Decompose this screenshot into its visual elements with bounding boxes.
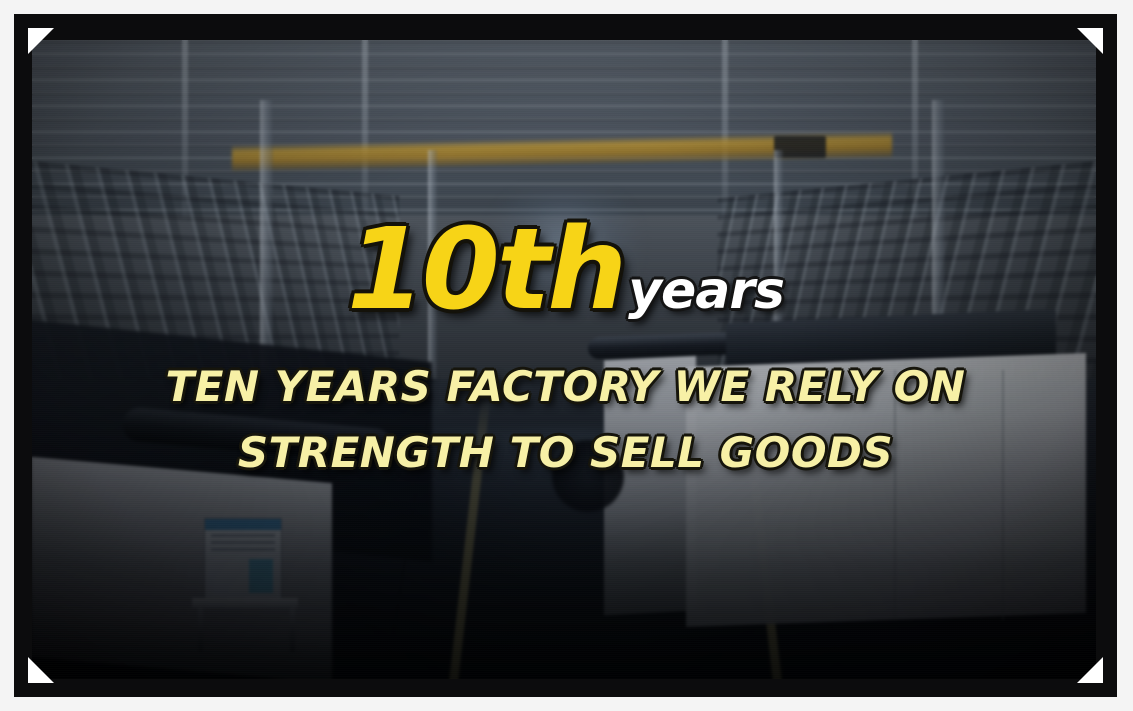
corner-marker-bottom-right-icon bbox=[1077, 657, 1103, 683]
ceiling-beam-3 bbox=[722, 40, 728, 220]
machine-right-panel-seam-2 bbox=[1002, 370, 1004, 620]
workbench-table-top bbox=[192, 598, 298, 608]
control-panel-titlebar bbox=[205, 519, 281, 530]
banner-root: 10th years TEN YEARS FACTORY WE RELY ON … bbox=[0, 0, 1133, 711]
machine-control-panel-screen bbox=[204, 518, 282, 602]
machine-left-body bbox=[32, 457, 332, 679]
machine-right-body bbox=[686, 353, 1086, 627]
banner-frame: 10th years TEN YEARS FACTORY WE RELY ON … bbox=[14, 14, 1117, 697]
control-panel-row bbox=[211, 548, 275, 551]
workbench-leg-right bbox=[290, 606, 295, 652]
control-panel-row bbox=[211, 534, 275, 537]
machine-cooling-fan bbox=[552, 440, 624, 512]
aisle-vanishing-point bbox=[489, 190, 639, 310]
page-margin-top bbox=[0, 0, 1133, 14]
machine-right-panel-seam-1 bbox=[894, 370, 896, 620]
page-margin-left bbox=[0, 0, 14, 711]
factory-photo bbox=[32, 40, 1096, 679]
corner-marker-top-right-icon bbox=[1077, 28, 1103, 54]
control-panel-row bbox=[211, 541, 275, 544]
corner-marker-top-left-icon bbox=[28, 28, 54, 54]
page-margin-bottom bbox=[0, 697, 1133, 711]
workbench-leg-left bbox=[198, 606, 203, 652]
page-margin-right bbox=[1117, 0, 1133, 711]
control-panel-widget bbox=[249, 559, 273, 593]
corner-marker-bottom-left-icon bbox=[28, 657, 54, 683]
